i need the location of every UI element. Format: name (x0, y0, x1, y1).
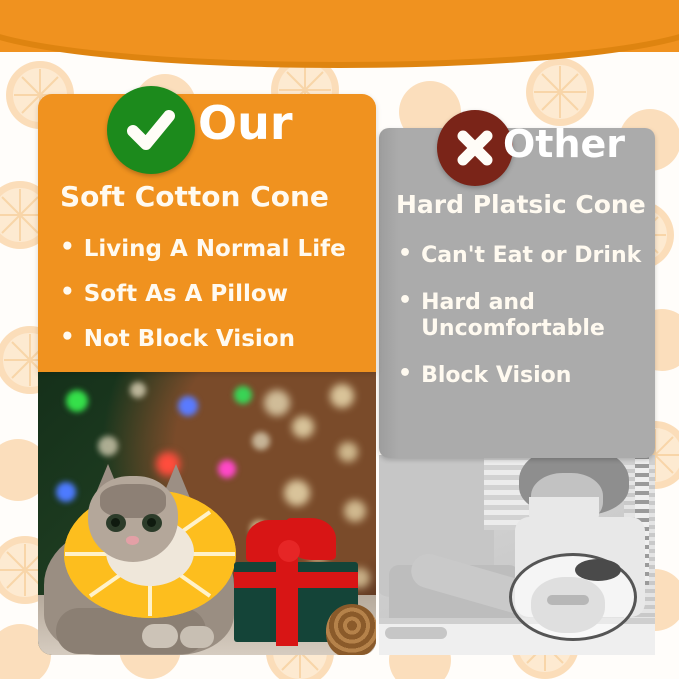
list-item: • Block Vision (398, 363, 648, 389)
list-item: • Hard and Uncomfortable (398, 290, 648, 342)
cross-circle-icon (437, 110, 513, 186)
our-subtitle: Soft Cotton Cone (60, 180, 329, 213)
list-item-label: Hard and Uncomfortable (421, 290, 605, 342)
bullet-marker: • (60, 236, 75, 259)
list-item: • Can't Eat or Drink (398, 243, 648, 269)
our-photo (38, 372, 376, 655)
list-item-label: Living A Normal Life (84, 236, 346, 263)
list-item: • Not Block Vision (60, 326, 370, 353)
other-feature-list: • Can't Eat or Drink • Hard and Uncomfor… (398, 243, 648, 410)
bullet-marker: • (60, 281, 75, 304)
other-subtitle: Hard Platsic Cone (396, 190, 646, 219)
header-banner (0, 0, 679, 72)
our-heading-text: Our (198, 96, 293, 150)
our-heading: Our (198, 96, 293, 150)
other-photo (379, 455, 655, 655)
cross-glyph (451, 124, 499, 172)
list-item-label: Not Block Vision (84, 326, 295, 353)
list-item-label: Can't Eat or Drink (421, 243, 641, 269)
list-item-label: Soft As A Pillow (84, 281, 288, 308)
list-item-label: Block Vision (421, 363, 571, 389)
other-heading: Other (503, 122, 625, 166)
bullet-marker: • (60, 326, 75, 349)
bullet-marker: • (398, 363, 412, 385)
list-item: • Living A Normal Life (60, 236, 370, 263)
list-item: • Soft As A Pillow (60, 281, 370, 308)
check-circle-icon (107, 86, 195, 174)
bullet-marker: • (398, 243, 412, 265)
our-feature-list: • Living A Normal Life • Soft As A Pillo… (60, 236, 370, 371)
bullet-marker: • (398, 290, 412, 312)
check-glyph (122, 101, 180, 159)
other-heading-text: Other (503, 122, 625, 166)
